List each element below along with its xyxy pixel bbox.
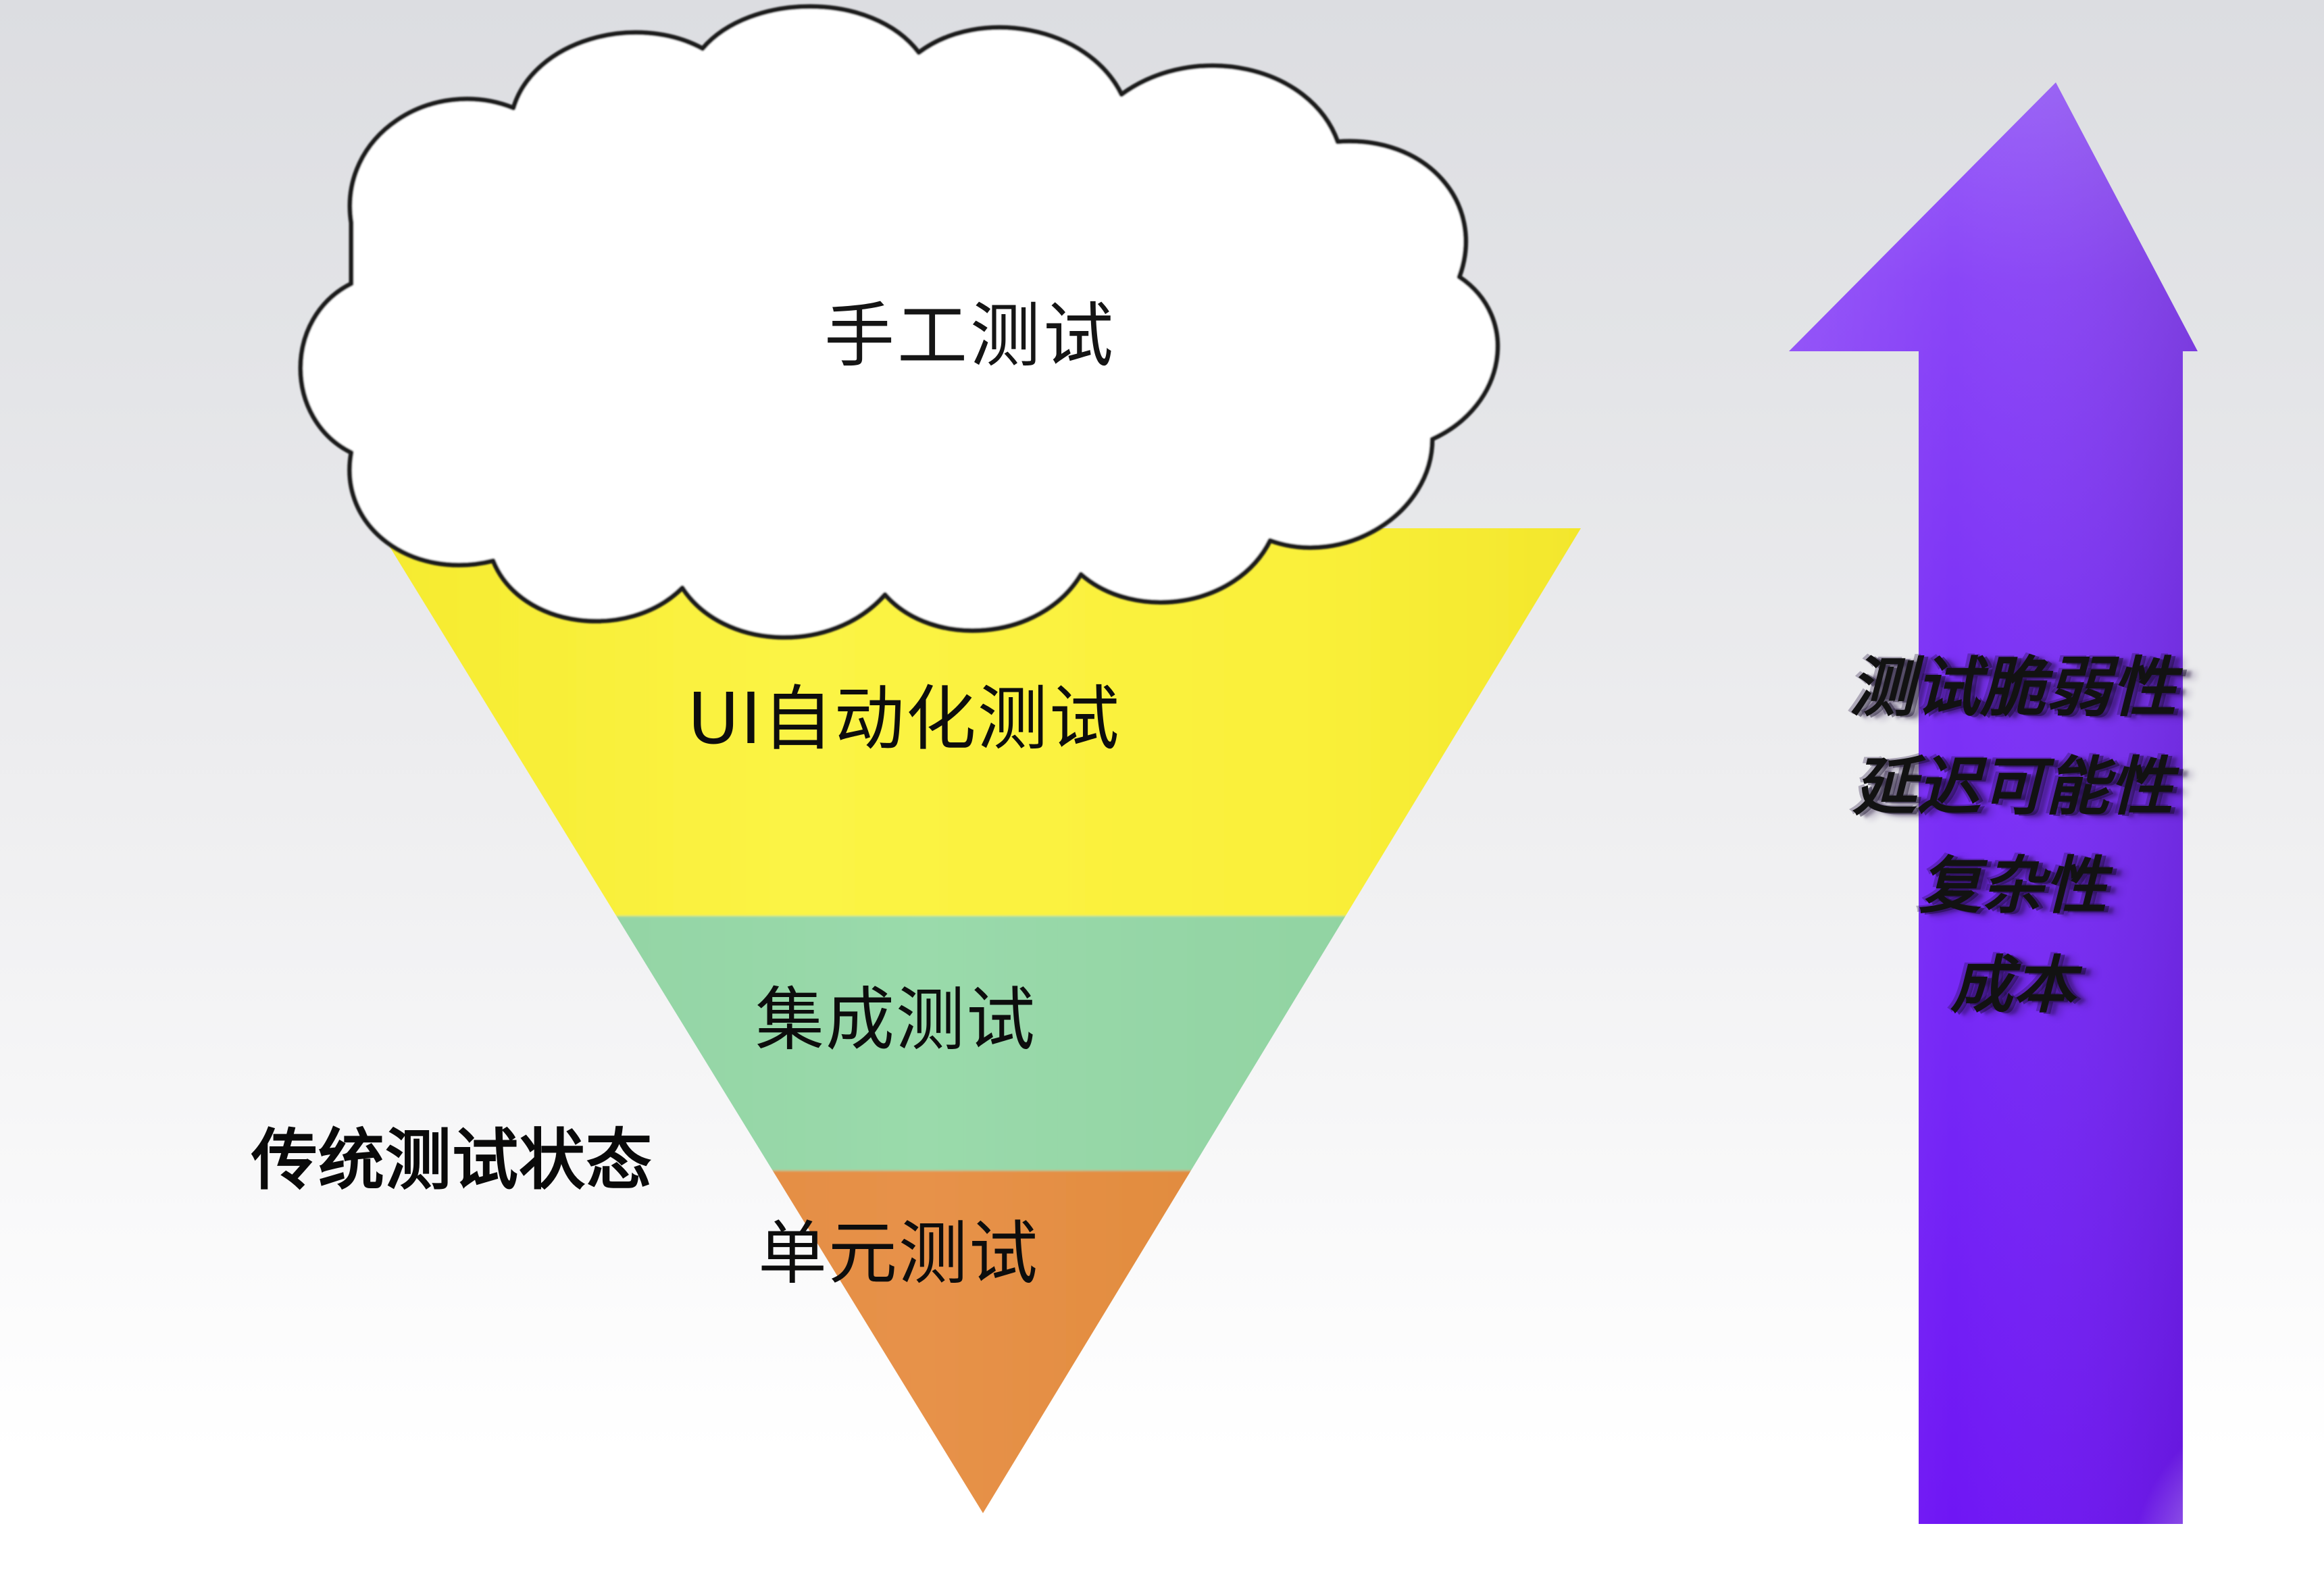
caption-traditional-testing-state: 传统测试状态	[251, 1106, 653, 1202]
funnel-label-ui-automation: UI自动化测试	[688, 684, 1121, 754]
diagram-canvas: 测试脆弱性 延迟可能性 复杂性 成本	[0, 0, 2324, 1578]
funnel-label-unit: 单元测试	[758, 1220, 1039, 1289]
cloud-shape	[0, 0, 2324, 1578]
cloud-label-manual-testing: 手工测试	[824, 278, 1116, 380]
funnel-label-integration: 集成测试	[755, 986, 1036, 1055]
